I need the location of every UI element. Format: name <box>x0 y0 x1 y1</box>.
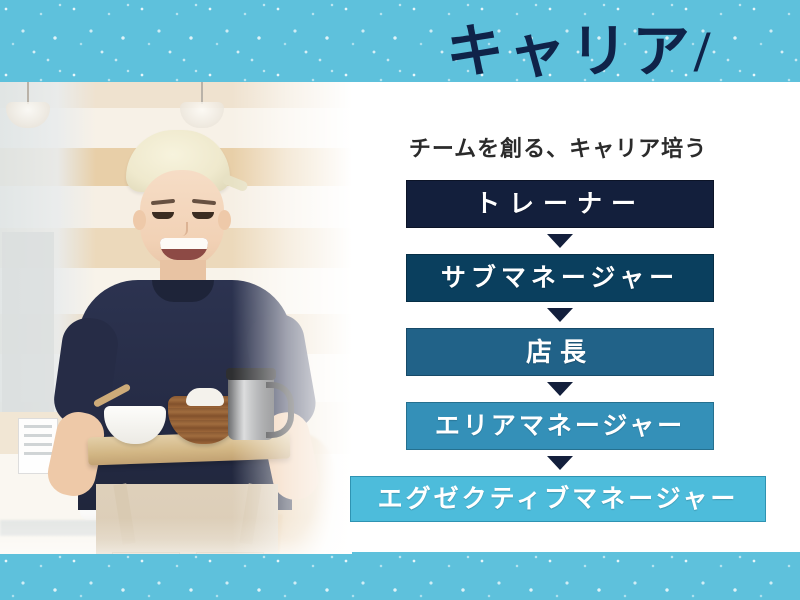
page-title: キャリア/ <box>400 16 760 88</box>
lamp-cord <box>201 82 203 104</box>
career-step-label: エリアマネージャー <box>435 414 685 439</box>
career-path-graphic: キャリア/ チームを創る、キャリア培う トレーナーサブマネージャー店長エリアマネ… <box>0 0 800 600</box>
career-step-3[interactable]: 店長 <box>406 328 714 376</box>
bottom-speckle-band <box>0 552 800 600</box>
career-step-label: サブマネージャー <box>441 266 679 291</box>
career-step-4[interactable]: エリアマネージャー <box>406 402 714 450</box>
career-step-label: エグゼクティブマネージャー <box>378 487 739 512</box>
arrow-down-icon <box>547 382 573 396</box>
page-subtitle: チームを創る、キャリア培う <box>378 130 738 164</box>
career-step-label: トレーナー <box>475 192 645 217</box>
arrow-down-icon <box>547 308 573 322</box>
career-ladder: トレーナーサブマネージャー店長エリアマネージャーエグゼクティブマネージャー <box>0 176 800 526</box>
career-step-5[interactable]: エグゼクティブマネージャー <box>350 476 766 522</box>
lamp-cord <box>27 82 29 104</box>
career-step-1[interactable]: トレーナー <box>406 180 714 228</box>
career-step-label: 店長 <box>526 339 594 365</box>
arrow-down-icon <box>547 456 573 470</box>
arrow-down-icon <box>547 234 573 248</box>
career-step-2[interactable]: サブマネージャー <box>406 254 714 302</box>
